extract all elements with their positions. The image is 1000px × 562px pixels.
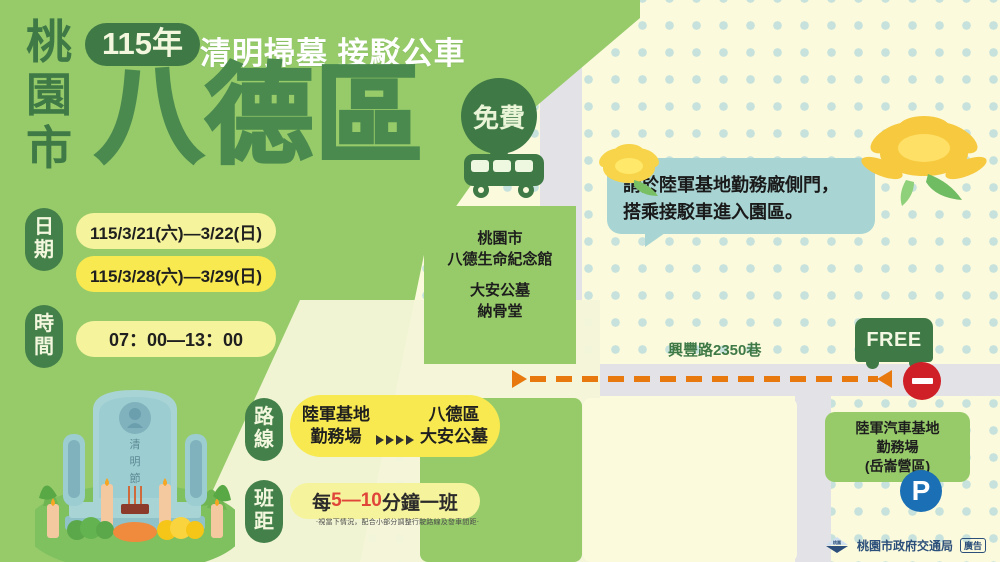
date-value-2: 115/3/28(六)—3/29(日) bbox=[76, 256, 276, 292]
chrysanthemum-icon-left bbox=[590, 138, 668, 202]
no-entry-icon bbox=[903, 362, 941, 400]
shuttle-route-line bbox=[512, 376, 890, 382]
poster-canvas: 桃園市 八德生命紀念館 大安公墓 納骨堂 桃園市 115年 清明掃墓 接駁公車 … bbox=[0, 0, 1000, 562]
route-arrow-left-icon bbox=[512, 370, 527, 388]
shuttle-bus-icon bbox=[462, 148, 550, 200]
street-label: 興豐路2350巷 bbox=[668, 339, 761, 360]
time-value: 07：00—13：00 bbox=[76, 321, 276, 357]
free-badge-pin: 免費 bbox=[461, 78, 537, 154]
frequency-prefix: 每 bbox=[312, 488, 331, 515]
cemetery-label-line2: 大安公墓 納骨堂 bbox=[425, 280, 575, 322]
svg-text:清: 清 bbox=[130, 438, 141, 451]
label-date: 日期 bbox=[25, 208, 63, 271]
parking-icon: P bbox=[900, 470, 942, 512]
frequency-suffix: 分鐘一班 bbox=[382, 488, 458, 515]
label-time: 時間 bbox=[25, 305, 63, 368]
route-pill: 陸軍基地 勤務場 八德區 大安公墓 bbox=[290, 395, 500, 457]
frequency-value: 每 5—10 分鐘一班 bbox=[290, 483, 480, 519]
frequency-number: 5—10 bbox=[331, 490, 382, 512]
city-vertical-title: 桃園市 bbox=[22, 16, 76, 175]
free-badge-label: 免費 bbox=[473, 98, 525, 135]
date-value-1: 115/3/21(六)—3/22(日) bbox=[76, 213, 276, 249]
route-arrow-icon bbox=[376, 435, 414, 445]
cemetery-label: 桃園市 八德生命紀念館 大安公墓 納骨堂 bbox=[425, 228, 575, 322]
svg-text:節: 節 bbox=[130, 471, 141, 485]
footer-agency: 桃園 桃園市政府交通局 廣告 bbox=[824, 536, 986, 554]
map-block-lower-mid bbox=[583, 398, 797, 562]
footer-agency-label: 桃園市政府交通局 bbox=[857, 537, 953, 554]
frequency-note: ‧視當下情況，配合小部分調整行駛路線及發車間距‧ bbox=[290, 517, 505, 527]
free-bus-icon: FREE bbox=[855, 318, 933, 362]
route-arrow-right-icon bbox=[877, 370, 892, 388]
route-from: 陸軍基地 勤務場 bbox=[302, 404, 370, 448]
label-frequency: 班距 bbox=[245, 480, 283, 543]
free-bus-label: FREE bbox=[866, 329, 921, 352]
route-dashes bbox=[530, 376, 878, 382]
route-to: 八德區 大安公墓 bbox=[420, 404, 488, 448]
svg-text:明: 明 bbox=[130, 455, 141, 468]
label-route: 路線 bbox=[245, 398, 283, 461]
tomb-illustration: 清 明 節 bbox=[35, 378, 235, 562]
tycg-logo-icon: 桃園 bbox=[824, 536, 850, 554]
depot-label: 陸軍汽車基地 勤務場 (岳崙營區) bbox=[825, 412, 970, 482]
ad-tag: 廣告 bbox=[960, 538, 986, 553]
svg-text:桃園: 桃園 bbox=[833, 539, 841, 545]
cemetery-label-line1: 桃園市 八德生命紀念館 bbox=[425, 228, 575, 270]
chrysanthemum-icon-right bbox=[858, 112, 990, 208]
district-title: 八德區 bbox=[95, 62, 425, 170]
